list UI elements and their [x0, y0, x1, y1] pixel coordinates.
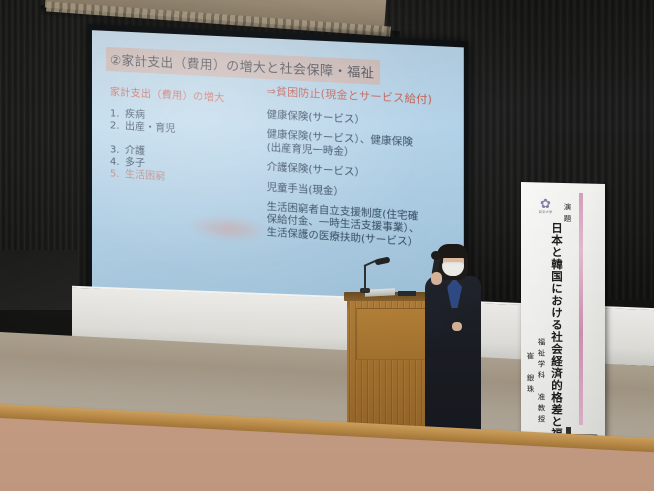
projector-hotspot	[189, 213, 269, 245]
presentation-slide: ②家計支出（費用）の増大と社会保障・福祉 家計支出（費用）の増大 1.疾病 2.…	[92, 30, 464, 317]
item-label: 疾病	[125, 109, 145, 121]
cost-increase-list: 1.疾病 2.出産・育児 3.介護 4.多子 5.生活困窮	[110, 109, 265, 189]
projection-screen-frame: ②家計支出（費用）の増大と社会保障・福祉 家計支出（費用）の増大 1.疾病 2.…	[88, 24, 468, 325]
item-label: 介護	[125, 145, 145, 157]
logo-glyph: ✿	[540, 196, 551, 211]
item-number: 5.	[110, 169, 125, 180]
slide-left-column: 家計支出（費用）の増大 1.疾病 2.出産・育児 3.介護 4.多子 5.生活困…	[110, 83, 265, 191]
item-number: 3.	[110, 145, 125, 156]
item-number: 1.	[110, 109, 125, 120]
item-number: 4.	[110, 157, 125, 168]
wall-dark-left	[0, 250, 78, 310]
item-label: 多子	[125, 157, 145, 169]
benefit-entry: 生活困窮者自立支援制度(住宅確 保給付金、一時生活支援事業）、 生活保護の医療扶…	[267, 202, 464, 254]
speaker-hand	[431, 272, 442, 285]
slide-right-column: ⇒貧困防止(現金とサービス給付) 健康保険(サービス） 健康保険(サービス）、健…	[267, 83, 464, 262]
banner-stripe	[579, 193, 583, 425]
logo-subtext: 記念大学	[537, 210, 554, 214]
banner-title: 日本と韓国における社会経済的格差と福祉	[549, 222, 565, 452]
speaker-fringe	[437, 244, 468, 258]
banner-department: 福祉学科 准教授	[536, 338, 547, 426]
right-column-heading: ⇒貧困防止(現金とサービス給付)	[267, 83, 464, 109]
slide-title: ②家計支出（費用）の増大と社会保障・福祉	[106, 47, 380, 85]
handheld-microphone-head	[431, 251, 441, 260]
speaker-hand-lower	[452, 322, 462, 331]
podium-front-panel	[356, 308, 430, 360]
microphone-stem	[364, 266, 366, 290]
projection-screen: ②家計支出（費用）の増大と社会保障・福祉 家計支出（費用）の増大 1.疾病 2.…	[92, 30, 464, 317]
item-label: 生活困窮	[125, 169, 165, 183]
laptop-screen	[398, 291, 416, 296]
lecture-hall-photo: ②家計支出（費用）の増大と社会保障・福祉 家計支出（費用）の増大 1.疾病 2.…	[0, 0, 654, 491]
banner-presenter: 崔 銀珠	[525, 352, 536, 396]
item-number: 2.	[110, 121, 125, 132]
benefit-entry: 健康保険(サービス）、健康保険 (出産育児一時金）	[267, 130, 464, 167]
item-label: 出産・育児	[125, 121, 175, 135]
left-column-heading: 家計支出（費用）の増大	[110, 83, 265, 106]
university-logo-icon: ✿ 記念大学	[537, 197, 554, 218]
